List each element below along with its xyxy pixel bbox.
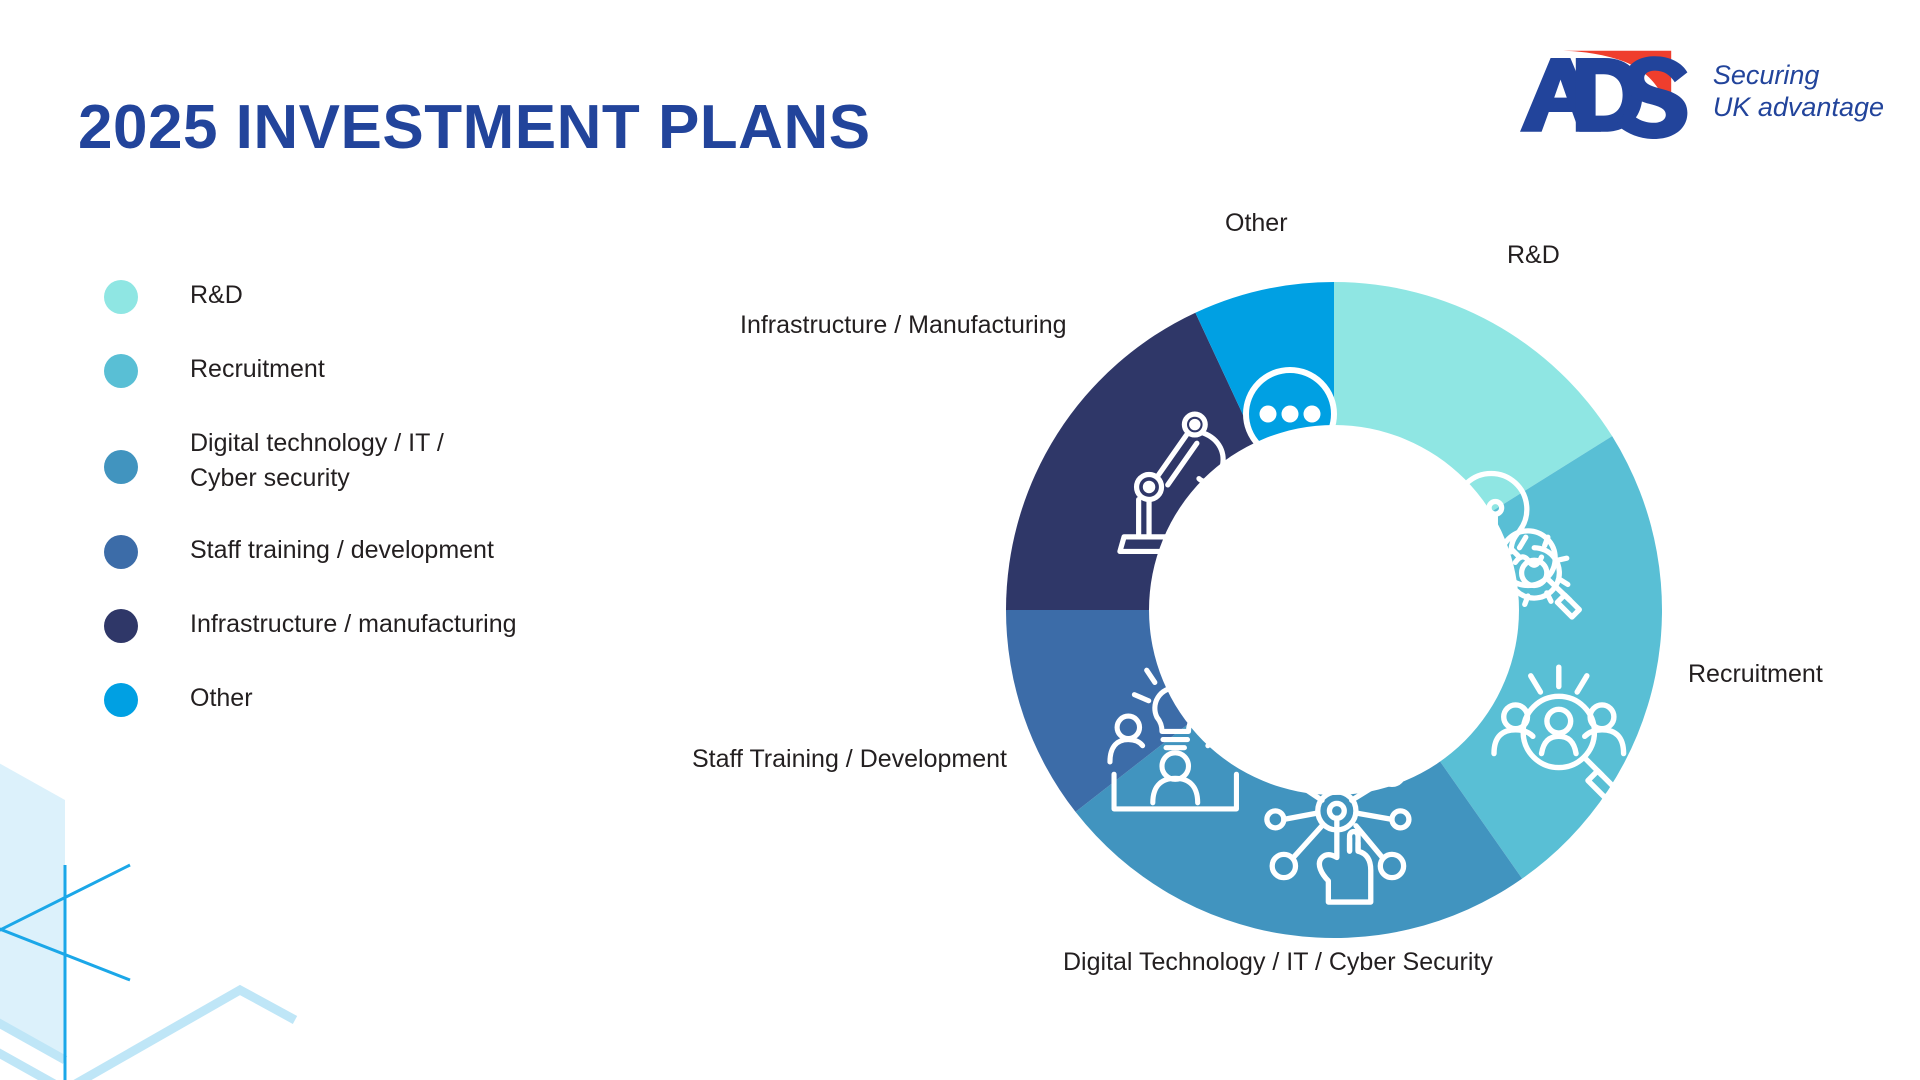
legend-item-digital[interactable]: Digital technology / IT / Cyber security — [104, 426, 664, 495]
legend-label-recruitment: Recruitment — [190, 352, 325, 387]
chart-label-rd: R&D — [1507, 241, 1560, 270]
legend-label-other: Other — [190, 681, 253, 716]
chart-label-recruitment: Recruitment — [1688, 660, 1823, 689]
chart-label-digital: Digital Technology / IT / Cyber Security — [1063, 948, 1493, 977]
legend-swatch-rd — [104, 280, 138, 314]
slide-canvas: 2025 INVESTMENT PLANS Securing UK advant… — [0, 0, 1920, 1080]
legend-item-infrastructure[interactable]: Infrastructure / manufacturing — [104, 607, 664, 643]
ads-tagline-line2: UK advantage — [1713, 92, 1884, 124]
ads-logo: Securing UK advantage — [1511, 30, 1884, 140]
legend-swatch-staff-training — [104, 535, 138, 569]
legend: R&D Recruitment Digital technology / IT … — [104, 278, 664, 717]
legend-swatch-digital — [104, 450, 138, 484]
legend-swatch-infrastructure — [104, 609, 138, 643]
legend-swatch-other — [104, 683, 138, 717]
ads-logo-tagline: Securing UK advantage — [1713, 60, 1884, 124]
legend-item-staff-training[interactable]: Staff training / development — [104, 533, 664, 569]
chart-label-other: Other — [1225, 209, 1288, 238]
ads-tagline-line1: Securing — [1713, 60, 1884, 92]
legend-label-digital: Digital technology / IT / Cyber security — [190, 426, 444, 495]
legend-item-other[interactable]: Other — [104, 681, 664, 717]
legend-item-recruitment[interactable]: Recruitment — [104, 352, 664, 388]
legend-swatch-recruitment — [104, 354, 138, 388]
legend-label-rd: R&D — [190, 278, 243, 313]
isometric-lines-watermark — [0, 690, 320, 1080]
donut-chart — [1004, 280, 1664, 940]
chart-label-infrastructure: Infrastructure / Manufacturing — [740, 311, 1067, 340]
ads-logo-mark-icon — [1511, 30, 1691, 140]
page-title: 2025 INVESTMENT PLANS — [78, 92, 871, 163]
legend-label-infrastructure: Infrastructure / manufacturing — [190, 607, 517, 642]
chart-label-staff-training: Staff Training / Development — [692, 745, 1007, 774]
legend-label-staff-training: Staff training / development — [190, 533, 494, 568]
legend-item-rd[interactable]: R&D — [104, 278, 664, 314]
